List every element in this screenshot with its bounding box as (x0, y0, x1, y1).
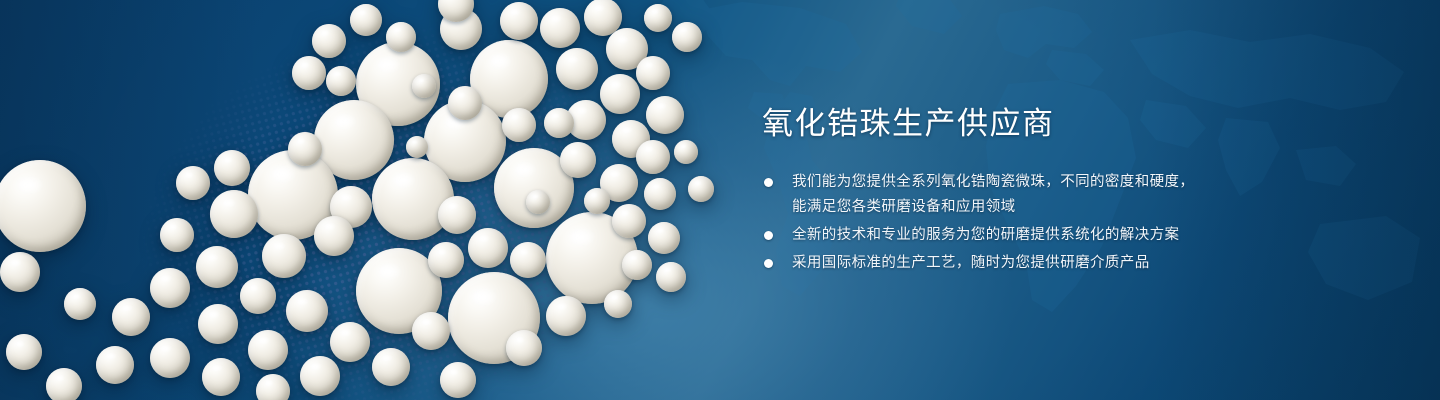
page-title: 氧化锆珠生产供应商 (762, 104, 1322, 144)
zirconia-bead-cluster-image (0, 0, 760, 400)
bullet-line-2: 能满足您各类研磨设备和应用领域 (792, 195, 1322, 220)
bullet-line-1: 全新的技术和专业的服务为您的研磨提供系统化的解决方案 (792, 227, 1179, 243)
feature-list: 我们能为您提供全系列氧化锆陶瓷微珠，不同的密度和硬度， 能满足您各类研磨设备和应… (762, 170, 1322, 276)
hero-banner: 氧化锆珠生产供应商 我们能为您提供全系列氧化锆陶瓷微珠，不同的密度和硬度， 能满… (0, 0, 1440, 400)
bullet-line-1: 采用国际标准的生产工艺，随时为您提供研磨介质产品 (792, 255, 1150, 271)
list-item: 我们能为您提供全系列氧化锆陶瓷微珠，不同的密度和硬度， 能满足您各类研磨设备和应… (762, 170, 1322, 220)
bullet-dot-icon (764, 231, 773, 240)
list-item: 全新的技术和专业的服务为您的研磨提供系统化的解决方案 (762, 223, 1322, 248)
bullet-dot-icon (764, 178, 773, 187)
banner-copy: 氧化锆珠生产供应商 我们能为您提供全系列氧化锆陶瓷微珠，不同的密度和硬度， 能满… (762, 104, 1322, 279)
bullet-line-1: 我们能为您提供全系列氧化锆陶瓷微珠，不同的密度和硬度， (792, 174, 1194, 190)
list-item: 采用国际标准的生产工艺，随时为您提供研磨介质产品 (762, 251, 1322, 276)
bullet-dot-icon (764, 259, 773, 268)
